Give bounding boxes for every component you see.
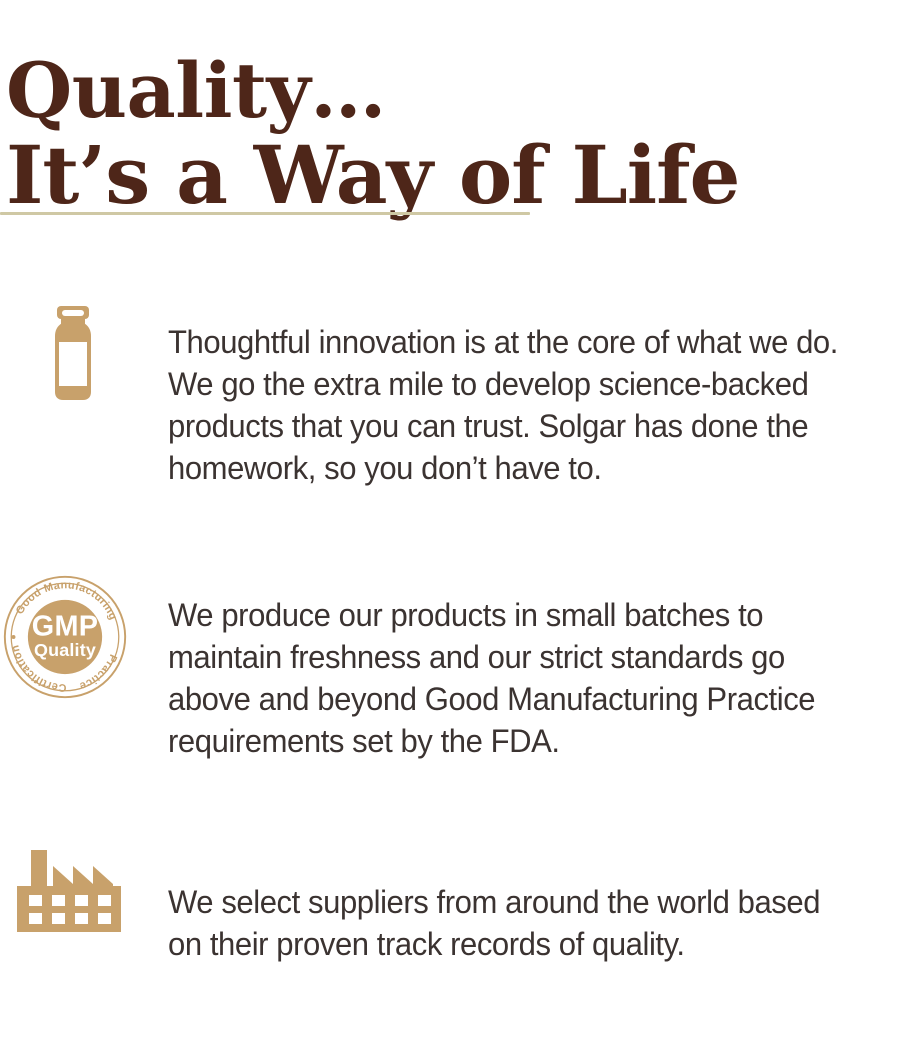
- page-title-line-2: It’s a Way of Life: [6, 133, 866, 217]
- feature-icon-slot: Good Manufacturing Practice Certificatio…: [0, 561, 168, 701]
- page-title-line-1: Quality…: [6, 49, 866, 133]
- feature-item-innovation: Thoughtful innovation is at the core of …: [0, 272, 900, 521]
- feature-icon-slot: [0, 830, 168, 932]
- gmp-quality-seal-icon: Good Manufacturing Practice Certificatio…: [1, 573, 129, 701]
- feature-list: Thoughtful innovation is at the core of …: [0, 272, 900, 1037]
- svg-text:GMP: GMP: [32, 611, 99, 643]
- feature-text-innovation: Thoughtful innovation is at the core of …: [168, 305, 867, 489]
- feature-text-small-batches: We produce our products in small batches…: [168, 594, 867, 762]
- svg-text:Quality: Quality: [34, 640, 96, 660]
- title-divider: [0, 212, 530, 215]
- page-title: Quality… It’s a Way of Life: [6, 49, 866, 217]
- factory-icon: [17, 850, 127, 932]
- feature-item-small-batches: Good Manufacturing Practice Certificatio…: [0, 561, 900, 794]
- quality-page: Quality… It’s a Way of Life: [0, 0, 900, 878]
- feature-icon-slot: [0, 272, 168, 402]
- feature-item-suppliers: We select suppliers from around the worl…: [0, 830, 900, 997]
- supplement-bottle-icon: [41, 306, 105, 402]
